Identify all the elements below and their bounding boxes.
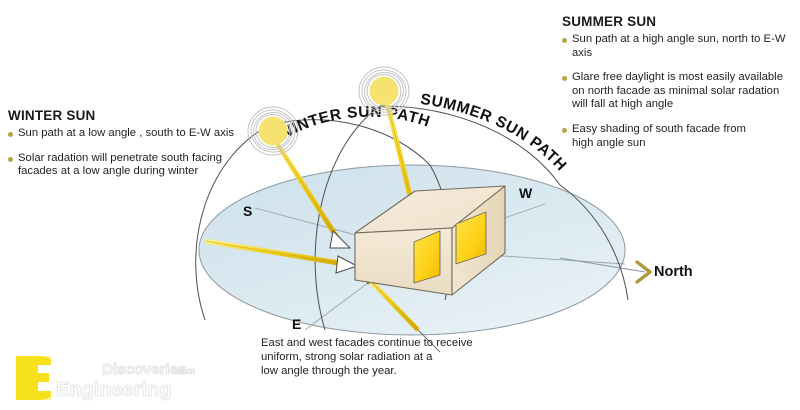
summer-bullet-2-text: Glare free daylight is most easily avail…	[572, 71, 783, 112]
summer-sun-panel: SUMMER SUN Sun path at a high angle sun,…	[562, 14, 800, 150]
compass-label-east: E	[292, 316, 301, 332]
winter-bullet-2: Solar radation will penetrate south faci…	[8, 152, 248, 179]
bullet-dot-icon	[8, 132, 13, 137]
summer-bullet-1: Sun path at a high angle sun, north to E…	[562, 33, 800, 60]
summer-bullet-2: Glare free daylight is most easily avail…	[562, 71, 800, 112]
winter-bullet-1-text: Sun path at a low angle , south to E-W a…	[18, 127, 234, 141]
bullet-dot-icon	[562, 38, 567, 43]
summer-bullet-3-text: Easy shading of south facade from high a…	[572, 123, 746, 150]
compass-label-north: North	[654, 264, 693, 280]
bullet-dot-icon	[8, 157, 13, 162]
site-logo: Discoveries .com Engineering	[14, 352, 224, 404]
summer-bullet-1-text: Sun path at a high angle sun, north to E…	[572, 33, 800, 60]
winter-sun-title: WINTER SUN	[8, 108, 248, 123]
compass-label-west: W	[519, 185, 532, 201]
logo-engineering-text: Engineering	[56, 379, 172, 401]
bullet-dot-icon	[562, 76, 567, 81]
winter-sun-symbol	[245, 104, 301, 158]
bullet-dot-icon	[562, 128, 567, 133]
summer-sun-title: SUMMER SUN	[562, 14, 800, 29]
sun-path-diagram-page: WINTER SUN PATH SUMMER SUN PATH	[0, 0, 800, 410]
summer-bullet-3: Easy shading of south facade from high a…	[562, 123, 800, 150]
logo-domain-suffix: .com	[174, 366, 195, 376]
east-west-facade-caption: East and west facades continue to receiv…	[261, 336, 511, 379]
winter-bullet-1: Sun path at a low angle , south to E-W a…	[8, 127, 248, 141]
winter-sun-panel: WINTER SUN Sun path at a low angle , sou…	[8, 108, 248, 179]
compass-label-south: S	[243, 203, 252, 219]
logo-e-mark	[16, 356, 51, 400]
winter-bullet-2-text: Solar radation will penetrate south faci…	[18, 152, 222, 179]
summer-sun-path-label: SUMMER SUN PATH	[419, 91, 570, 175]
